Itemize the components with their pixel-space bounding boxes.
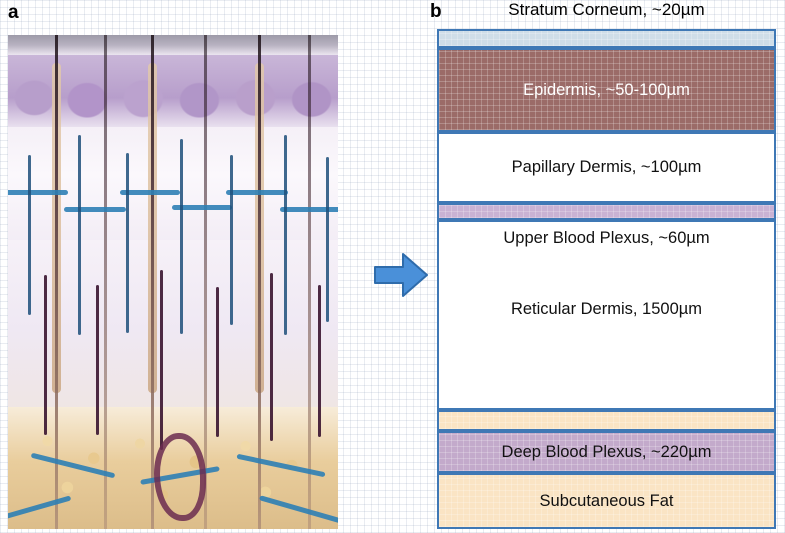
layer-subcutaneous-fat: Subcutaneous Fat: [437, 473, 776, 529]
hair-shaft: [55, 35, 58, 529]
layer-epidermis-label: Epidermis, ~50-100µm: [523, 81, 690, 100]
hair-shaft: [151, 35, 154, 529]
blood-vessel: [280, 207, 338, 212]
blood-vessel: [96, 285, 99, 435]
layer-reticular-dermis: Upper Blood Plexus, ~60µm Reticular Derm…: [437, 220, 776, 410]
upper-blood-plexus-label: Upper Blood Plexus, ~60µm: [503, 229, 709, 248]
blood-vessel: [326, 157, 329, 322]
blood-vessel: [270, 273, 273, 441]
blood-vessel: [226, 190, 288, 195]
blood-vessel: [318, 285, 321, 437]
layer-subcutaneous-fat-label: Subcutaneous Fat: [540, 492, 674, 511]
blood-vessel: [180, 139, 183, 334]
blood-vessel: [8, 190, 68, 195]
blood-vessel: [230, 155, 233, 325]
hair-shaft: [204, 35, 207, 529]
hair-shaft: [258, 35, 261, 529]
layer-papillary-dermis-label: Papillary Dermis, ~100µm: [512, 158, 702, 177]
blood-vessel: [160, 270, 163, 450]
blood-vessel: [78, 135, 81, 335]
histology-image-panel-a: [8, 35, 338, 529]
panel-label-a: a: [8, 2, 19, 24]
blood-vessel: [28, 155, 31, 315]
layer-stratum-corneum: [437, 29, 776, 48]
layer-deep-blood-plexus: Deep Blood Plexus, ~220µm: [437, 431, 776, 473]
right-arrow-icon: [371, 245, 431, 305]
blood-vessel: [216, 287, 219, 437]
blood-vessel: [44, 275, 47, 435]
stratum-corneum-caption: Stratum Corneum, ~20µm: [437, 0, 776, 20]
layer-papillary-dermis: Papillary Dermis, ~100µm: [437, 132, 776, 203]
sweat-gland-coil: [154, 433, 206, 521]
blood-vessel: [126, 153, 129, 333]
layer-reticular-dermis-label: Reticular Dermis, 1500µm: [511, 300, 702, 319]
layer-deep-blood-plexus-label: Deep Blood Plexus, ~220µm: [502, 443, 712, 462]
layer-upper-blood-plexus-band: [437, 203, 776, 220]
layer-interface-band: [437, 410, 776, 431]
hair-shaft: [308, 35, 311, 529]
hair-shaft: [104, 35, 107, 529]
blood-vessel: [284, 135, 287, 335]
blood-vessel: [64, 207, 126, 212]
layer-epidermis: Epidermis, ~50-100µm: [437, 48, 776, 132]
skin-layer-model-diagram: Epidermis, ~50-100µm Papillary Dermis, ~…: [437, 29, 776, 529]
blood-vessel: [120, 190, 180, 195]
